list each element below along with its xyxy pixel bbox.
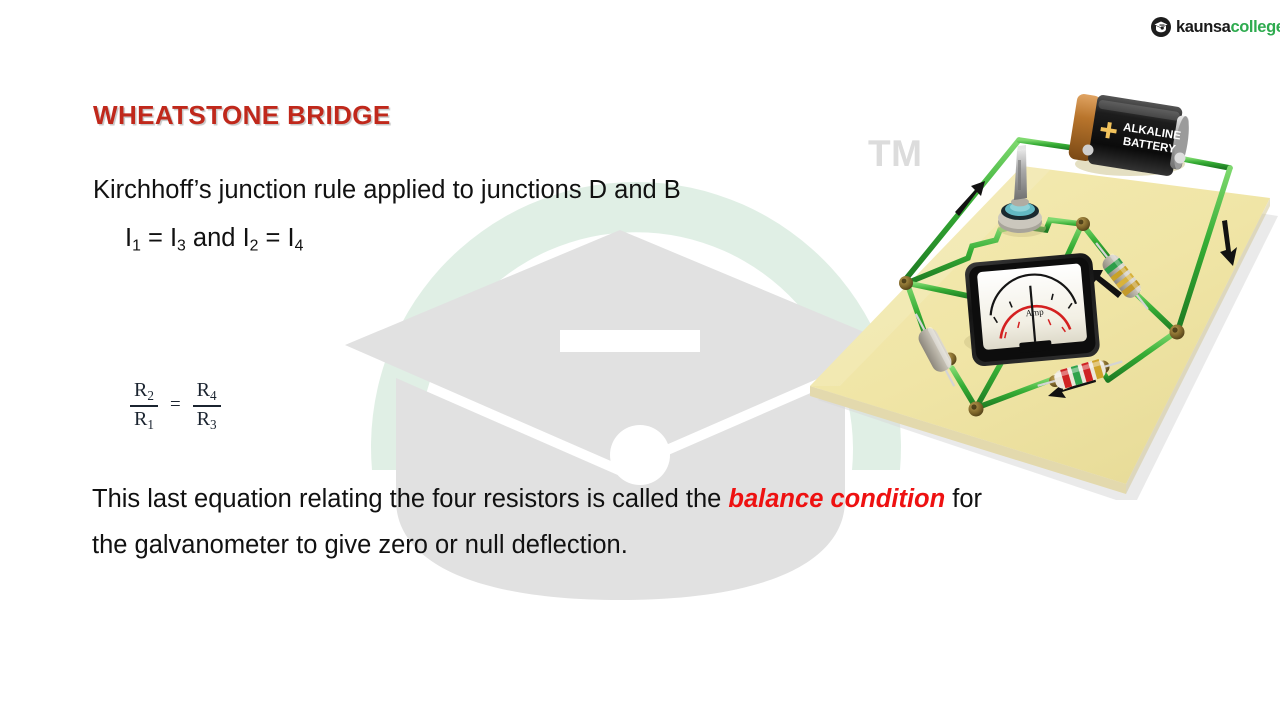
terminal-top-node [1076, 217, 1090, 231]
r2-subscript: 2 [147, 388, 154, 403]
kirchhoff-statement: Kirchhoff’s junction rule applied to jun… [93, 176, 681, 205]
terminal-left-node [899, 276, 913, 290]
galvanometer-scale-label: Amp [1025, 307, 1044, 319]
r1-symbol: R [134, 408, 147, 430]
left-fraction: R2 R1 [130, 380, 158, 431]
conjunction-and: and [186, 224, 243, 252]
current-equalities: I1 = I3 and I2 = I4 [125, 224, 303, 255]
terminal-bottom-node [969, 402, 984, 417]
slide-canvas: TM kaunsacollege® WHEATSTONE BRIDGE Kirc… [0, 0, 1280, 720]
r3-symbol: R [197, 408, 210, 430]
terminal-right-node [1170, 325, 1185, 340]
i4-symbol: I [288, 224, 295, 252]
i3-symbol: I [170, 224, 177, 252]
wheatstone-bridge-illustration: ALKALINE BATTERY [800, 80, 1280, 500]
equals-1: = [141, 224, 170, 252]
logo-text-college: college [1230, 18, 1280, 36]
galvanometer: Amp [964, 252, 1101, 367]
right-fraction: R4 R3 [193, 380, 221, 431]
r4-subscript: 4 [210, 388, 217, 403]
r1-subscript: 1 [147, 416, 154, 431]
i2-symbol: I [243, 224, 250, 252]
r2-symbol: R [134, 379, 147, 401]
right-fraction-bar [193, 405, 221, 407]
r3-subscript: 3 [210, 416, 217, 431]
circuit-photo-svg: ALKALINE BATTERY [800, 80, 1280, 500]
logo-text-kaunsa: kaunsa [1176, 18, 1230, 36]
left-fraction-bar [130, 405, 158, 407]
paragraph-part-1: This last equation relating the four res… [92, 485, 728, 513]
alkaline-battery: ALKALINE BATTERY [1067, 91, 1193, 178]
left-fraction-numerator: R2 [130, 380, 158, 403]
right-fraction-denominator: R3 [193, 409, 221, 432]
watermark-cap-relief [498, 292, 742, 396]
right-fraction-numerator: R4 [193, 380, 221, 403]
equation-equals-sign: = [170, 394, 181, 418]
i1-subscript: 1 [132, 237, 141, 254]
equals-2: = [258, 224, 287, 252]
graduation-cap-circle-icon [1150, 16, 1172, 38]
left-fraction-denominator: R1 [130, 409, 158, 432]
brand-logo[interactable]: kaunsacollege® [1150, 16, 1280, 38]
i4-subscript: 4 [295, 237, 304, 254]
page-title: WHEATSTONE BRIDGE [93, 100, 391, 131]
r4-symbol: R [197, 379, 210, 401]
i3-subscript: 3 [177, 237, 186, 254]
logo-wordmark: kaunsacollege® [1176, 19, 1280, 36]
balance-condition-equation: R2 R1 = R4 R3 [130, 380, 221, 431]
